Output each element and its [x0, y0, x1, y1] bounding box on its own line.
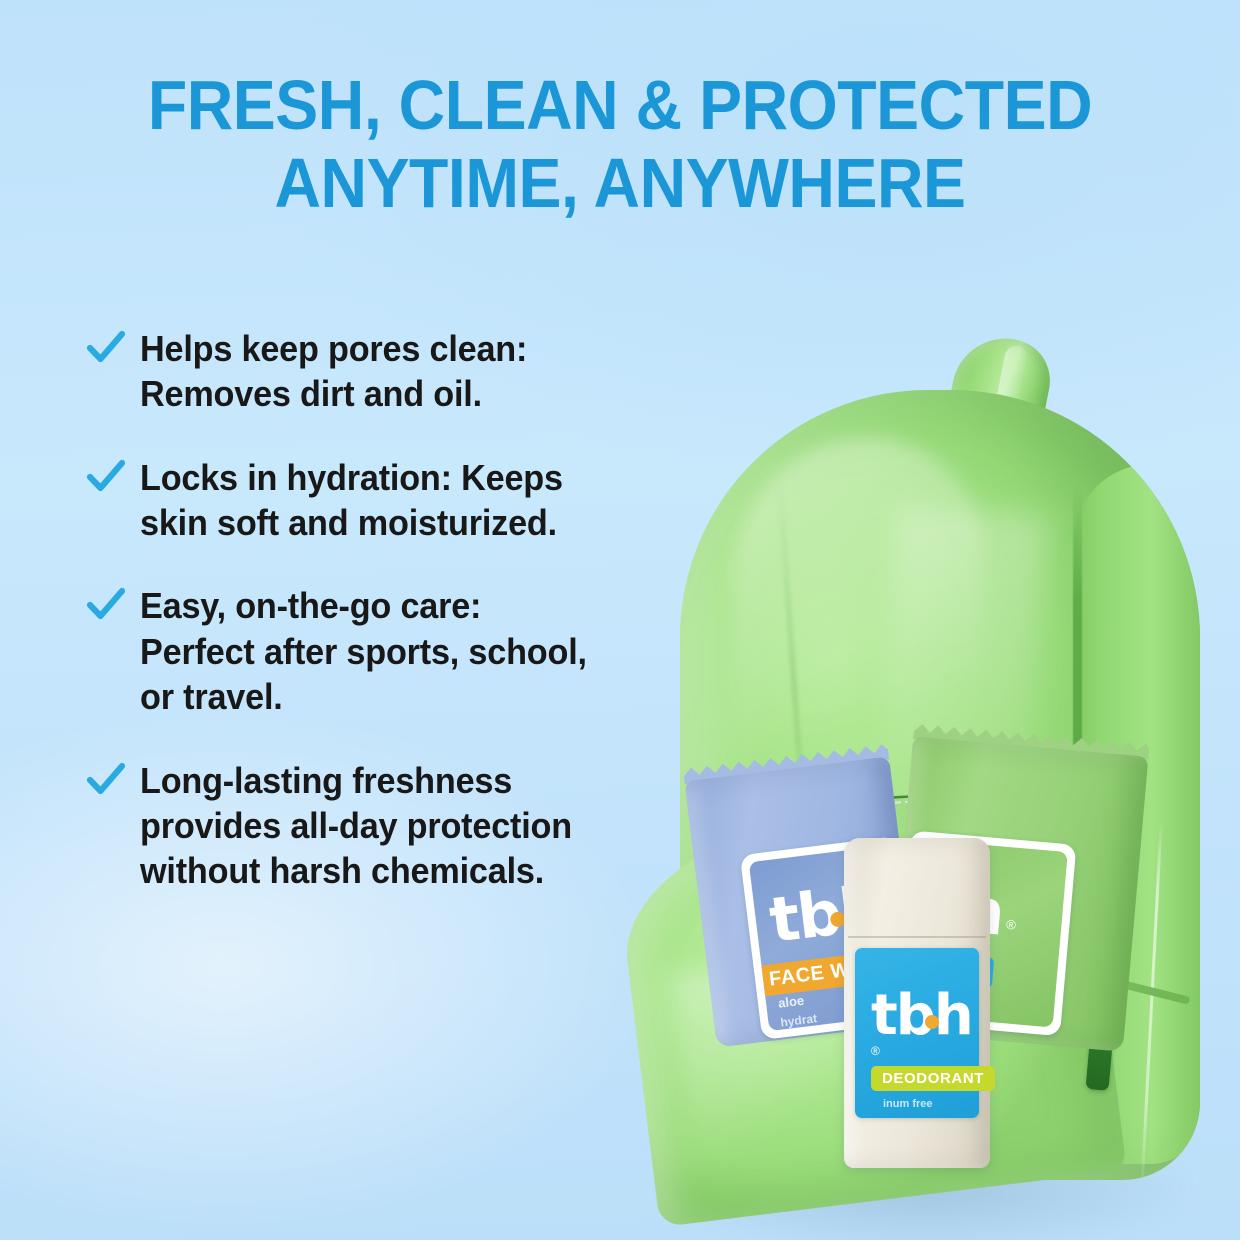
benefit-text: Helps keep pores clean: Removes dirt and…: [140, 326, 527, 417]
product-type-banner: DEODORANT: [871, 1066, 995, 1091]
page-title: FRESH, CLEAN & PROTECTED ANYTIME, ANYWHE…: [50, 66, 1191, 223]
benefit-item-1: Helps keep pores clean: Removes dirt and…: [86, 326, 686, 417]
product-deodorant-stick[interactable]: tbh ® DEODORANT inum free: [844, 838, 990, 1168]
benefits-list: Helps keep pores clean: Removes dirt and…: [86, 326, 686, 894]
deodorant-fine-print: inum free: [883, 1098, 933, 1110]
checkmark-icon: [86, 585, 126, 625]
benefit-item-3: Easy, on-the-go care: Perfect after spor…: [86, 583, 686, 719]
headline-line-1: FRESH, CLEAN & PROTECTED: [50, 66, 1191, 144]
benefit-text: Long-lasting freshness provides all-day …: [140, 758, 572, 894]
benefit-item-2: Locks in hydration: Keeps skin soft and …: [86, 455, 686, 546]
logo-dot: [925, 1015, 939, 1029]
headline-line-2: ANYTIME, ANYWHERE: [50, 144, 1191, 222]
pack-fine-print: hydrat: [780, 1011, 818, 1029]
benefit-text: Locks in hydration: Keeps skin soft and …: [140, 455, 563, 546]
checkmark-icon: [86, 760, 126, 800]
checkmark-icon: [86, 457, 126, 497]
deodorant-seam: [848, 936, 986, 938]
benefit-text: Easy, on-the-go care: Perfect after spor…: [140, 583, 587, 719]
deodorant-label: tbh ® DEODORANT inum free: [855, 948, 979, 1118]
registered-mark: ®: [1006, 917, 1017, 933]
pack-fine-print: aloe: [777, 993, 805, 1011]
brand-logo-tbh: tbh: [871, 988, 972, 1044]
product-scene: tbh FACE W aloe hydrat ss sk: [628, 330, 1240, 1240]
benefit-item-4: Long-lasting freshness provides all-day …: [86, 758, 686, 894]
product-marketing-banner: FRESH, CLEAN & PROTECTED ANYTIME, ANYWHE…: [0, 0, 1240, 1240]
checkmark-icon: [86, 328, 126, 368]
